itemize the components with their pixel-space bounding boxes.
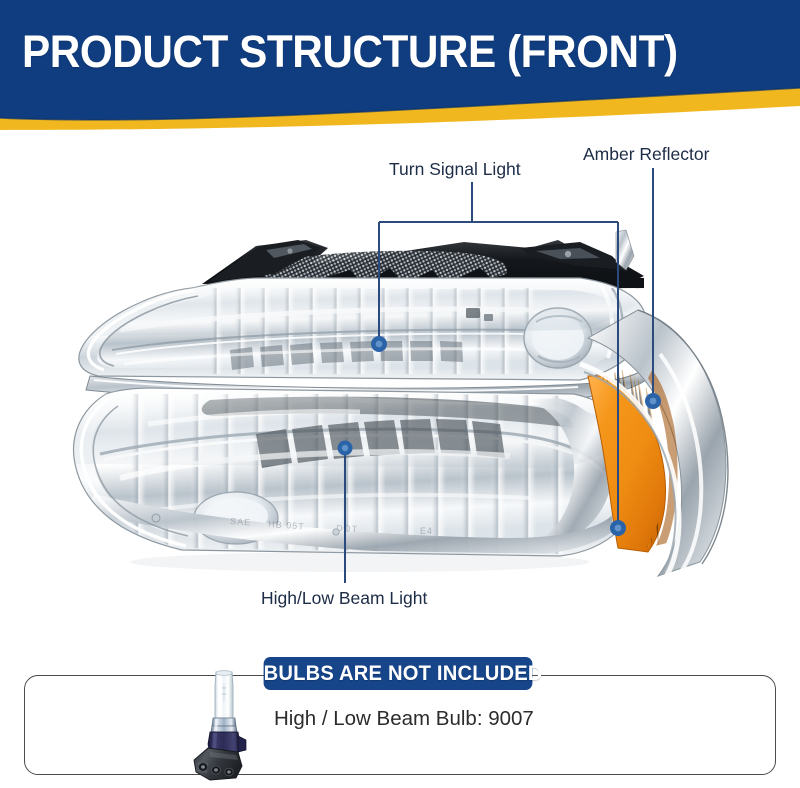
callout-label-high-low-beam-light: High/Low Beam Light — [261, 588, 427, 609]
bulbs-not-included-badge: BULBS ARE NOT INCLUDED — [264, 657, 533, 690]
header-banner: PRODUCT STRUCTURE (FRONT) — [0, 0, 800, 130]
product-structure-infographic: PRODUCT STRUCTURE (FRONT) — [0, 0, 800, 788]
lower-lamp-section: SAE HB 05T DOT E4 — [74, 388, 643, 556]
bulb-caption: High / Low Beam Bulb: 9007 — [274, 706, 534, 732]
page-title: PRODUCT STRUCTURE (FRONT) — [22, 24, 736, 80]
upper-lamp-section — [79, 278, 646, 380]
headlight-assembly-image: SAE HB 05T DOT E4 — [60, 218, 740, 578]
svg-text:SAE: SAE — [230, 516, 252, 527]
halogen-bulb-9007-image — [186, 668, 262, 785]
callout-label-turn-signal-light: Turn Signal Light — [389, 159, 521, 180]
svg-text:E4: E4 — [420, 526, 433, 536]
callout-label-amber-reflector: Amber Reflector — [583, 144, 709, 165]
